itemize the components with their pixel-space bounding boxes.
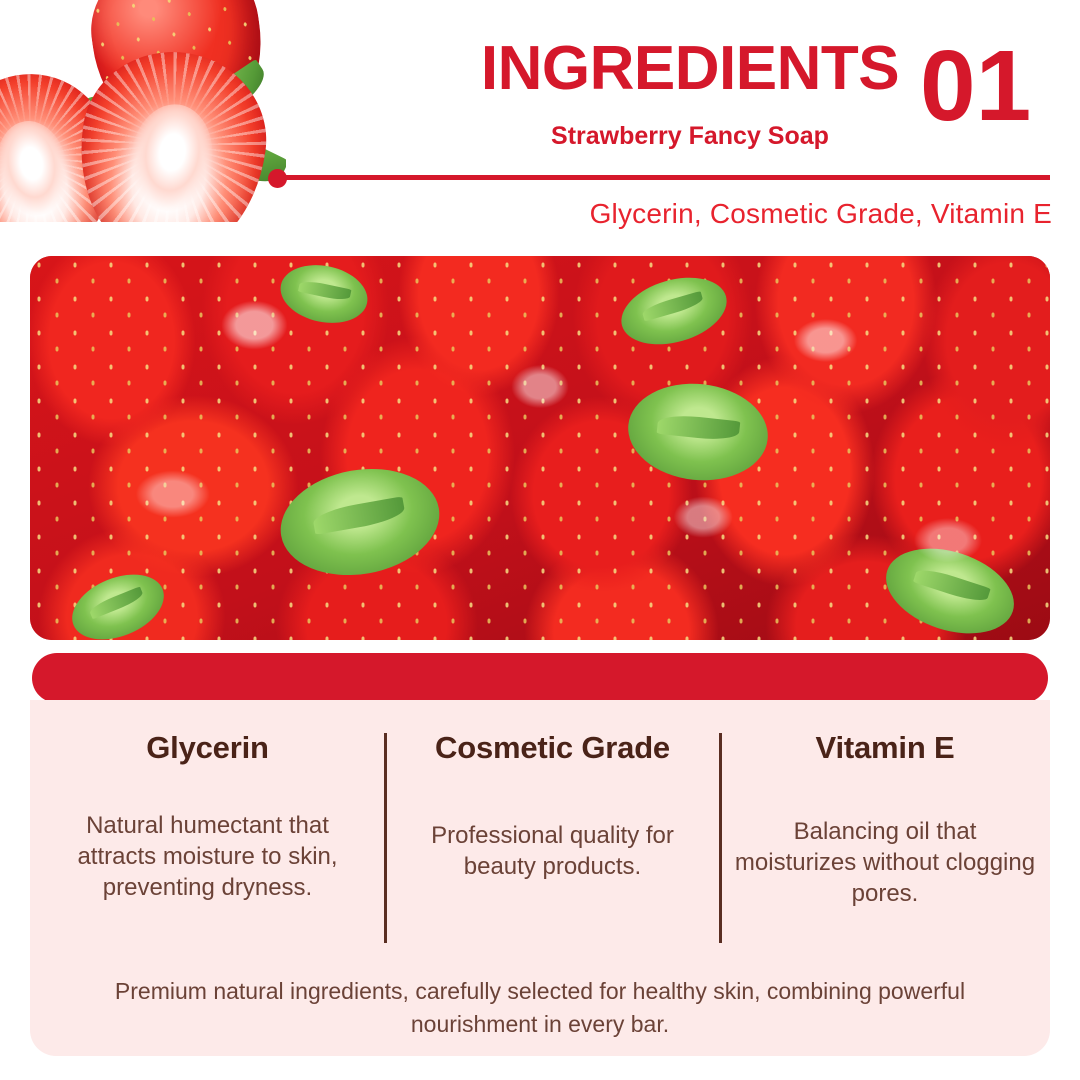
photo-highlights [30,256,1050,640]
strawberry-cutout-image [0,0,286,240]
strawberries-photo [30,256,1050,640]
column-title: Cosmetic Grade [399,730,706,766]
column-divider [384,733,387,943]
footer-note: Premium natural ingredients, carefully s… [80,975,1000,1040]
page-subtitle: Strawberry Fancy Soap [470,122,910,151]
ingredient-column-cosmetic-grade: Cosmetic Grade Professional quality for … [385,716,720,966]
red-accent-bar [32,653,1048,703]
column-divider [719,733,722,943]
ingredient-column-vitamin-e: Vitamin E Balancing oil that moisturizes… [720,716,1050,966]
column-title: Vitamin E [734,730,1036,766]
page-title: INGREDIENTS [470,38,910,100]
column-body: Balancing oil that moisturizes without c… [734,816,1036,910]
column-body: Professional quality for beauty products… [399,820,706,882]
ingredient-column-glycerin: Glycerin Natural humectant that attracts… [30,716,385,966]
ingredient-list-text: Glycerin, Cosmetic Grade, Vitamin E [400,198,1052,230]
column-title: Glycerin [44,730,371,766]
image-bottom-fade [0,222,286,240]
ingredient-columns: Glycerin Natural humectant that attracts… [30,716,1050,966]
divider-line [282,175,1050,180]
ingredients-card: INGREDIENTS 01 Strawberry Fancy Soap Gly… [0,0,1080,1080]
section-number: 01 [920,36,1060,136]
column-body: Natural humectant that attracts moisture… [44,810,371,904]
